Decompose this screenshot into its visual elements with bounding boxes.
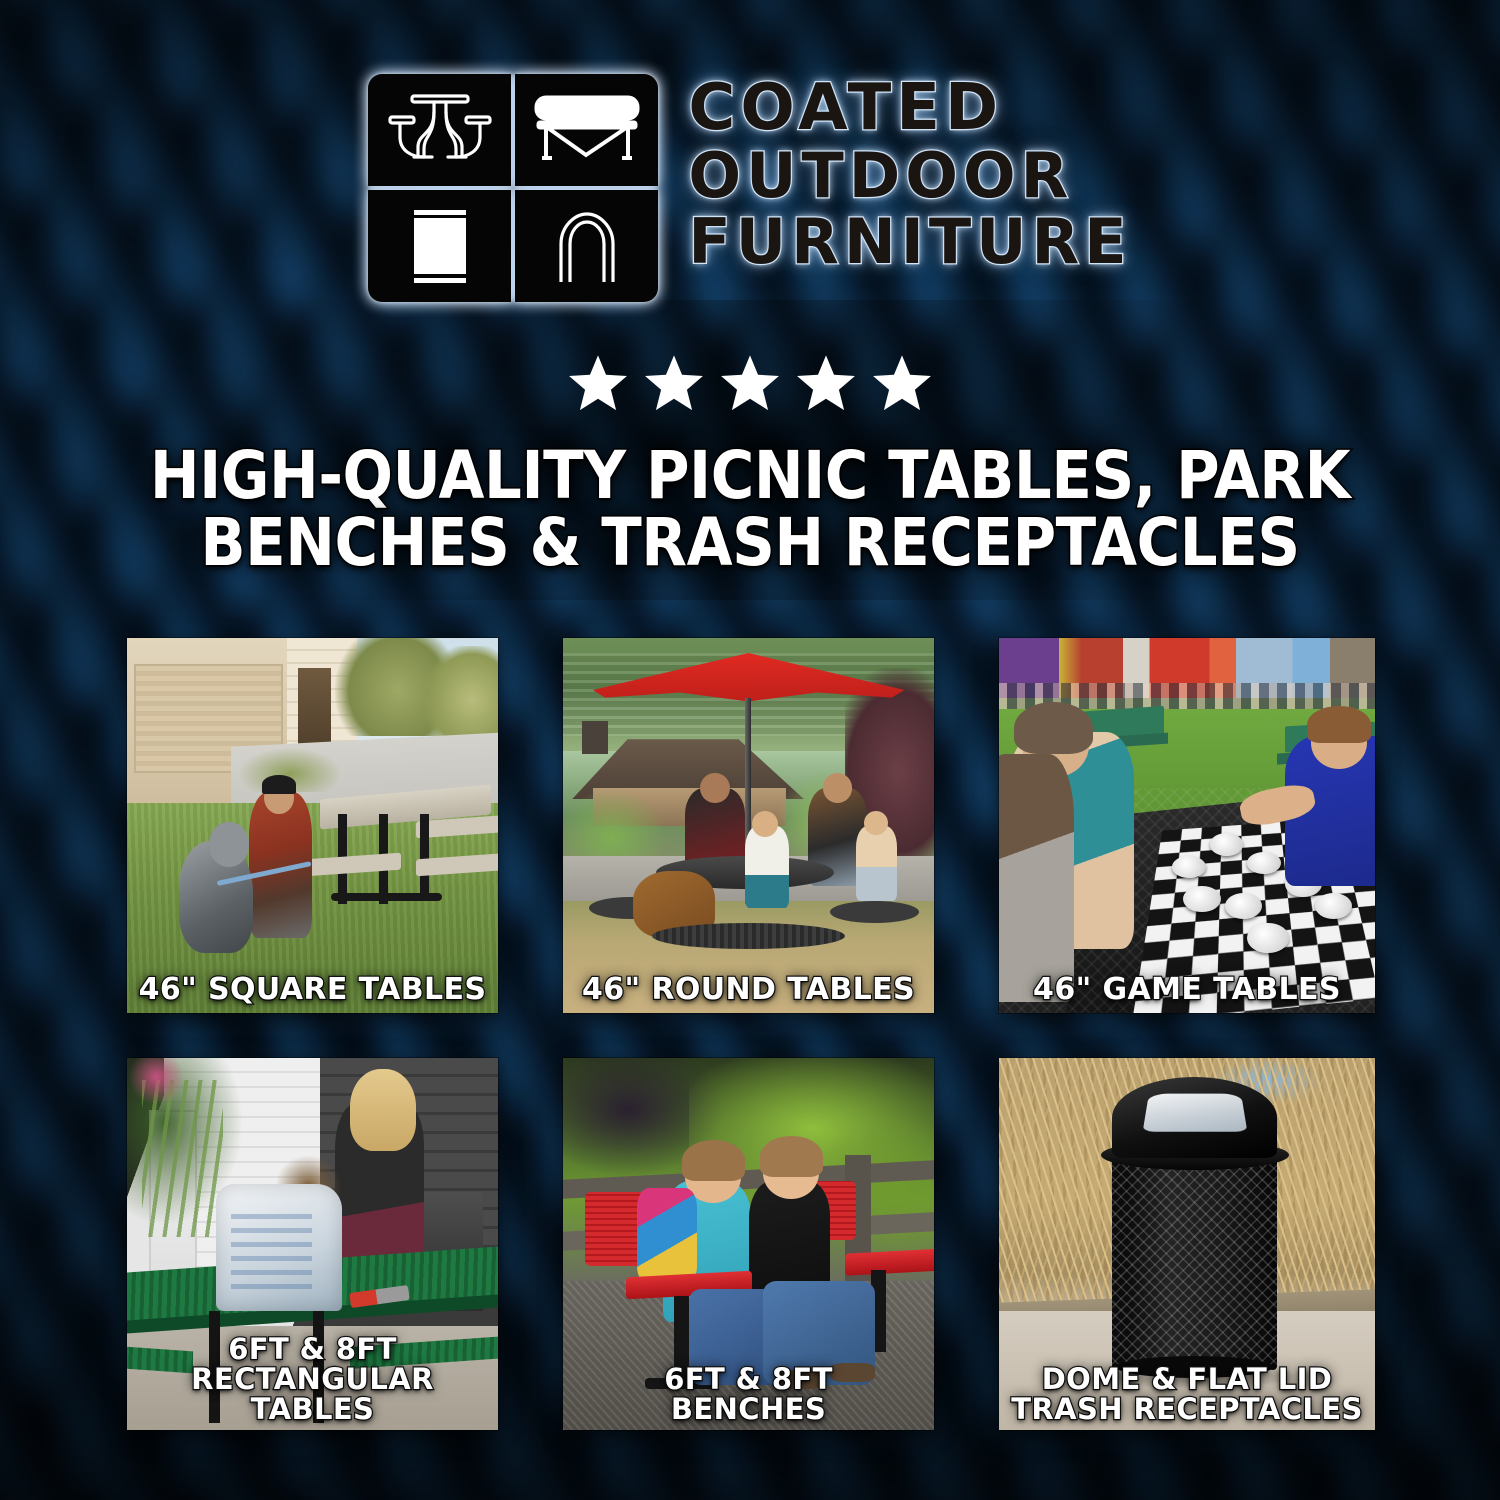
product-photo-square-tables (127, 638, 498, 1013)
product-caption: 6FT & 8FT RECTANGULAR TABLES (133, 1334, 492, 1424)
star-icon (794, 352, 858, 414)
brand-line-2: OUTDOOR (688, 144, 1131, 208)
product-card-square-tables[interactable]: 46" SQUARE TABLES (127, 638, 498, 1013)
product-grid: 46" SQUARE TABLES 46" ROUND TABLES (127, 638, 1373, 1430)
star-icon (566, 352, 630, 414)
product-photo-game-tables (999, 638, 1375, 1013)
bike-rack-icon (515, 190, 658, 302)
product-caption-line-1: DOME & FLAT LID (1042, 1362, 1333, 1396)
product-card-rectangular-tables[interactable]: 6FT & 8FT RECTANGULAR TABLES (127, 1058, 498, 1430)
brand-wordmark: COATED OUTDOOR FURNITURE (688, 74, 1131, 274)
product-caption-line-1: 6FT & 8FT (228, 1332, 397, 1366)
star-icon (870, 352, 934, 414)
product-card-benches[interactable]: 6FT & 8FT BENCHES (563, 1058, 934, 1430)
product-caption-line-1: 6FT & 8FT (664, 1362, 833, 1396)
star-rating (0, 352, 1500, 414)
product-caption-line-2: TRASH RECEPTACLES (1011, 1392, 1363, 1426)
star-icon (718, 352, 782, 414)
bench-icon (515, 74, 658, 186)
trash-receptacle-icon (368, 190, 511, 302)
headline-line-1: HIGH-QUALITY PICNIC TABLES, PARK (138, 442, 1362, 509)
product-card-round-tables[interactable]: 46" ROUND TABLES (563, 638, 934, 1013)
brand-line-1: COATED (688, 76, 1131, 142)
product-caption: 46" GAME TABLES (1005, 974, 1369, 1005)
product-caption: 46" ROUND TABLES (569, 974, 928, 1005)
product-caption-line-2: BENCHES (671, 1392, 826, 1426)
headline-line-2: BENCHES & TRASH RECEPTACLES (138, 509, 1362, 576)
product-card-trash-receptacles[interactable]: DOME & FLAT LID TRASH RECEPTACLES (999, 1058, 1375, 1430)
company-logo-mark (368, 74, 658, 302)
brand-line-3: FURNITURE (688, 210, 1131, 274)
product-card-game-tables[interactable]: 46" GAME TABLES (999, 638, 1375, 1013)
product-photo-round-tables (563, 638, 934, 1013)
page-headline: HIGH-QUALITY PICNIC TABLES, PARK BENCHES… (70, 442, 1430, 577)
product-caption-line-2: RECTANGULAR TABLES (191, 1362, 434, 1426)
product-caption: 6FT & 8FT BENCHES (569, 1364, 928, 1424)
star-icon (642, 352, 706, 414)
product-caption: 46" SQUARE TABLES (133, 974, 492, 1005)
brand-header: COATED OUTDOOR FURNITURE (0, 74, 1500, 302)
poster-root: COATED OUTDOOR FURNITURE HIGH-QUALITY PI… (0, 0, 1500, 1500)
picnic-table-icon (368, 74, 511, 186)
product-caption: DOME & FLAT LID TRASH RECEPTACLES (1005, 1364, 1369, 1424)
